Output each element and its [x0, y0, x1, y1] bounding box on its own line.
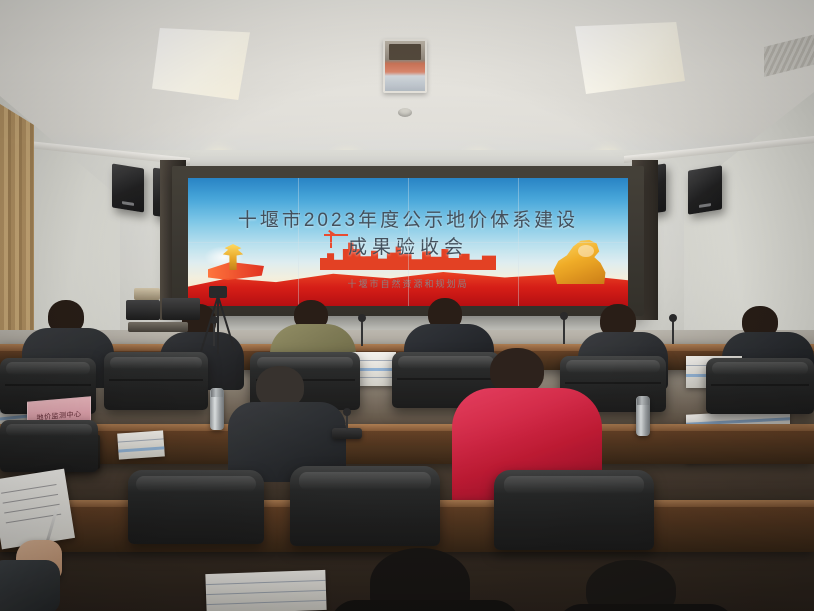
ceiling-smoke-detector	[398, 108, 412, 117]
ceiling-panel-light-left	[152, 28, 250, 100]
microphone-2	[361, 320, 363, 346]
video-wall-seam-h1	[188, 242, 628, 243]
chair-back-2	[104, 352, 208, 410]
video-wall-frame: 十堰市2023年度公示地价体系建设 成果验收会 十堰市自然资源和规划局	[172, 166, 644, 316]
microphone-3	[563, 318, 565, 344]
microphone-5	[346, 414, 348, 430]
meeting-room-photo: 十堰市2023年度公示地价体系建设 成果验收会 十堰市自然资源和规划局	[0, 0, 814, 611]
chair-front-3	[494, 470, 654, 550]
audio-video-control-station	[126, 288, 204, 334]
camera-tripod	[196, 296, 240, 354]
foreground-sleeve	[0, 560, 60, 611]
chair-front-1	[128, 470, 264, 544]
microphone-4	[672, 320, 674, 344]
foreground-paper	[205, 570, 326, 611]
thermos-1	[210, 388, 224, 430]
chair-back-6	[706, 358, 814, 414]
document-stack-6	[117, 430, 165, 459]
ceiling-panel-light-right	[575, 22, 685, 94]
thermos-2	[636, 396, 650, 436]
chair-front-2	[290, 466, 440, 546]
chair-left-front	[0, 420, 98, 472]
ceiling-vent-unit	[383, 39, 427, 93]
video-wall-display[interactable]: 十堰市2023年度公示地价体系建设 成果验收会 十堰市自然资源和规划局	[188, 178, 628, 306]
foreground-writing-paper	[0, 469, 75, 550]
wall-speaker-left-outer	[112, 163, 144, 212]
wall-speaker-right-outer	[688, 165, 722, 214]
